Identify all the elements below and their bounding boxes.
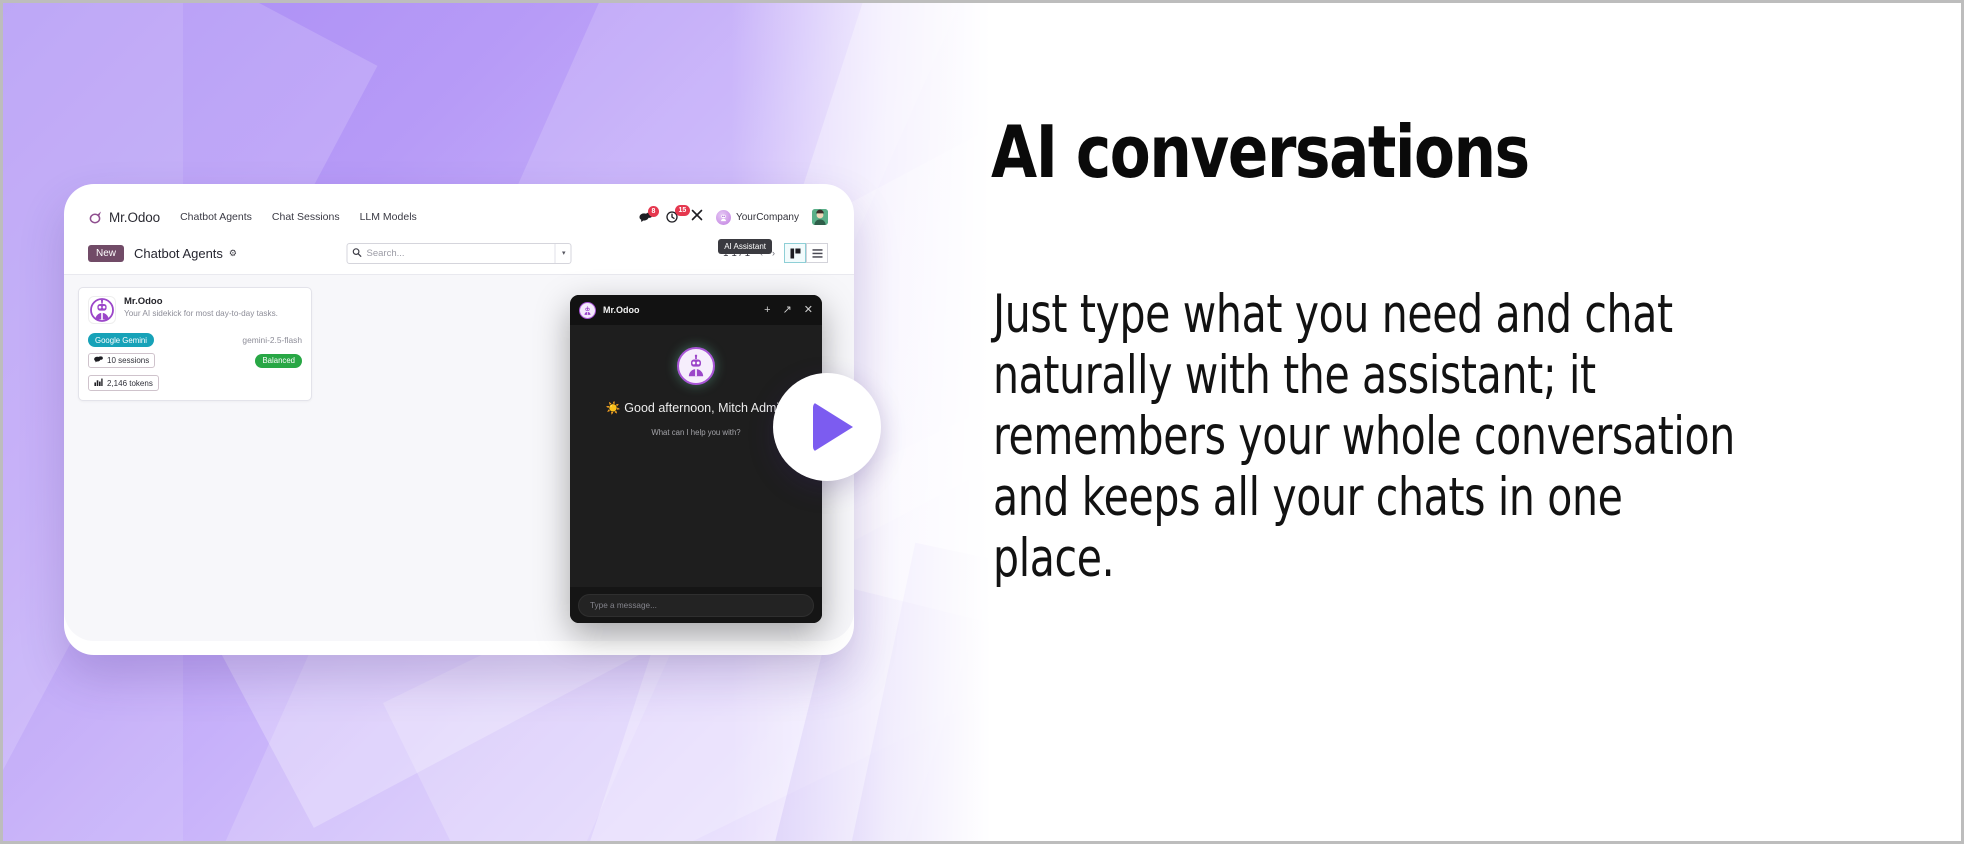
- sessions-count: 10 sessions: [107, 356, 149, 365]
- nav-chat-sessions[interactable]: Chat Sessions: [272, 211, 340, 223]
- chat-bubble-icon: [94, 356, 103, 365]
- sun-icon: ☀️: [606, 401, 621, 415]
- settings-wrench-icon[interactable]: [691, 208, 703, 226]
- agent-description: Your AI sidekick for most day-to-day tas…: [124, 309, 278, 319]
- agent-provider-row: Google Gemini gemini-2.5-flash: [88, 333, 302, 347]
- control-panel-right: 1-1 / 1 ‹ ›: [723, 243, 828, 263]
- agent-name: Mr.Odoo: [124, 296, 278, 307]
- agent-card-header: Mr.Odoo Your AI sidekick for most day-to…: [88, 296, 302, 324]
- brand-name: Mr.Odoo: [109, 210, 160, 225]
- hero-body-copy: Just type what you need and chat natural…: [993, 285, 1750, 590]
- gear-icon[interactable]: ⚙: [229, 248, 237, 259]
- provider-badge: Google Gemini: [88, 333, 154, 347]
- chat-message-input[interactable]: Type a message...: [578, 594, 814, 617]
- odoo-logo-icon: [88, 210, 103, 225]
- chat-bot-avatar-large-icon: [677, 347, 715, 385]
- nav-llm-models[interactable]: LLM Models: [360, 211, 417, 223]
- control-panel: New Chatbot Agents ⚙ Search... ▾ 1-1 / 1: [78, 238, 840, 268]
- ai-assistant-avatar: [716, 210, 731, 225]
- agent-tokens-row: 2,146 tokens: [88, 373, 302, 391]
- page-title: Chatbot Agents: [134, 246, 223, 261]
- hero-text-panel: AI conversations Just type what you need…: [991, 3, 1964, 841]
- activities-badge-count: 15: [675, 205, 690, 216]
- company-switcher[interactable]: YourCompany: [716, 210, 799, 225]
- breadcrumb: Chatbot Agents ⚙: [134, 246, 237, 261]
- hero-headline: AI conversations: [991, 110, 1529, 194]
- chat-subtext: What can I help you with?: [651, 428, 740, 437]
- chat-greeting: ☀️ Good afternoon, Mitch Admin: [596, 399, 796, 417]
- search-icon: [353, 248, 362, 259]
- robot-avatar-icon: [88, 296, 116, 324]
- sessions-chip: 10 sessions: [88, 353, 155, 368]
- chat-window-footer: Type a message...: [570, 587, 822, 623]
- company-name: YourCompany: [736, 212, 799, 223]
- kanban-view-button[interactable]: [784, 243, 806, 263]
- activities-icon[interactable]: 15: [666, 211, 678, 223]
- user-avatar[interactable]: [812, 209, 828, 225]
- list-view-button[interactable]: [806, 243, 828, 263]
- chevron-down-icon[interactable]: ▾: [555, 244, 566, 263]
- agent-kanban-card[interactable]: Mr.Odoo Your AI sidekick for most day-to…: [78, 287, 312, 401]
- model-name: gemini-2.5-flash: [242, 335, 302, 345]
- bar-chart-icon: [94, 378, 103, 388]
- topbar-right-group: 8 15: [639, 208, 828, 226]
- chat-window-header: Mr.Odoo + ↗ ✕: [570, 295, 822, 325]
- play-button[interactable]: [773, 373, 881, 481]
- pager-next-icon[interactable]: ›: [772, 248, 775, 258]
- chat-greeting-text: Good afternoon, Mitch Admin: [624, 401, 786, 415]
- chat-window-actions: + ↗ ✕: [764, 305, 813, 316]
- ai-assistant-tooltip: AI Assistant: [718, 239, 772, 254]
- tokens-chip: 2,146 tokens: [88, 375, 159, 391]
- agent-stats-row: 10 sessions Balanced: [88, 353, 302, 368]
- messages-icon[interactable]: 8: [639, 212, 653, 223]
- expand-icon[interactable]: ↗: [783, 305, 792, 316]
- slide-root: Mr.Odoo Chatbot Agents Chat Sessions LLM…: [0, 0, 1964, 844]
- agent-card-text: Mr.Odoo Your AI sidekick for most day-to…: [124, 296, 278, 319]
- new-button[interactable]: New: [88, 245, 124, 262]
- chat-bot-avatar-icon: [579, 302, 596, 319]
- search-input[interactable]: Search...: [367, 248, 555, 259]
- chat-window-title: Mr.Odoo: [603, 305, 640, 315]
- play-triangle-icon: [813, 402, 853, 452]
- search-box[interactable]: Search... ▾: [347, 243, 572, 264]
- nav-chatbot-agents[interactable]: Chatbot Agents: [180, 211, 252, 223]
- tokens-count: 2,146 tokens: [107, 379, 153, 388]
- new-chat-plus-icon[interactable]: +: [764, 305, 770, 316]
- messages-badge-count: 8: [648, 206, 659, 217]
- app-topbar: Mr.Odoo Chatbot Agents Chat Sessions LLM…: [78, 200, 840, 234]
- balanced-badge: Balanced: [255, 354, 302, 368]
- close-icon[interactable]: ✕: [804, 305, 813, 316]
- app-brand[interactable]: Mr.Odoo: [88, 210, 160, 225]
